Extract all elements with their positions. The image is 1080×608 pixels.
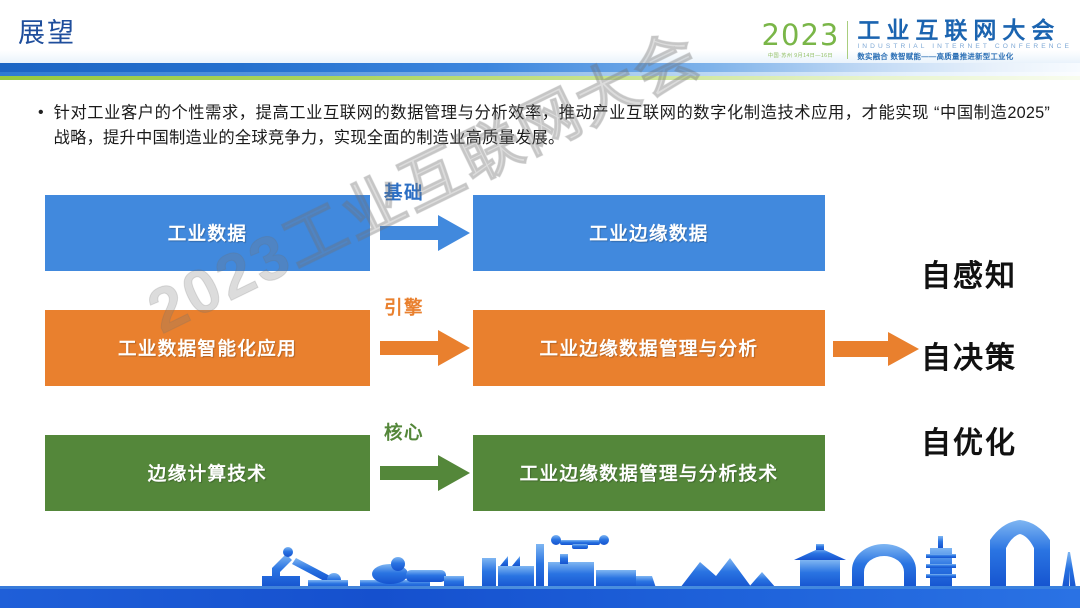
- footer: [0, 520, 1080, 608]
- footer-band: [0, 586, 1080, 608]
- diagram-row: 工业数据 基础 工业边缘数据: [0, 195, 1080, 271]
- outcome-label-self-optimization: 自优化: [921, 418, 1017, 462]
- flow-box-target: 工业边缘数据管理与分析技术: [473, 435, 825, 511]
- arrow-right-icon: [380, 215, 470, 251]
- outcome-label-self-perception: 自感知: [921, 251, 1017, 295]
- flow-box-target: 工业边缘数据: [473, 195, 825, 271]
- flow-arrow-label: 引擎: [384, 294, 424, 320]
- outcome-label-self-decision: 自决策: [921, 333, 1017, 377]
- flow-arrow-label: 核心: [384, 419, 424, 445]
- arrow-right-icon: [380, 455, 470, 491]
- flow-arrow-label: 基础: [384, 179, 424, 205]
- skyline-illustration: [0, 518, 1080, 588]
- slide-canvas: 展望 2023 中国·苏州 9月14日—16日 工业互联网大会 INDUSTRI…: [0, 0, 1080, 608]
- arrow-right-icon: [380, 330, 470, 366]
- flow-box-target: 工业边缘数据管理与分析: [473, 310, 825, 386]
- flow-diagram: 工业数据 基础 工业边缘数据 工业数据智能化应用 引擎 工业边缘数据管理与分析 …: [0, 0, 1080, 608]
- flow-box-source: 工业数据: [45, 195, 370, 271]
- flow-box-source: 边缘计算技术: [45, 435, 370, 511]
- diagram-row: 边缘计算技术 核心 工业边缘数据管理与分析技术: [0, 435, 1080, 511]
- outcome-arrow-icon: [833, 332, 919, 366]
- flow-box-source: 工业数据智能化应用: [45, 310, 370, 386]
